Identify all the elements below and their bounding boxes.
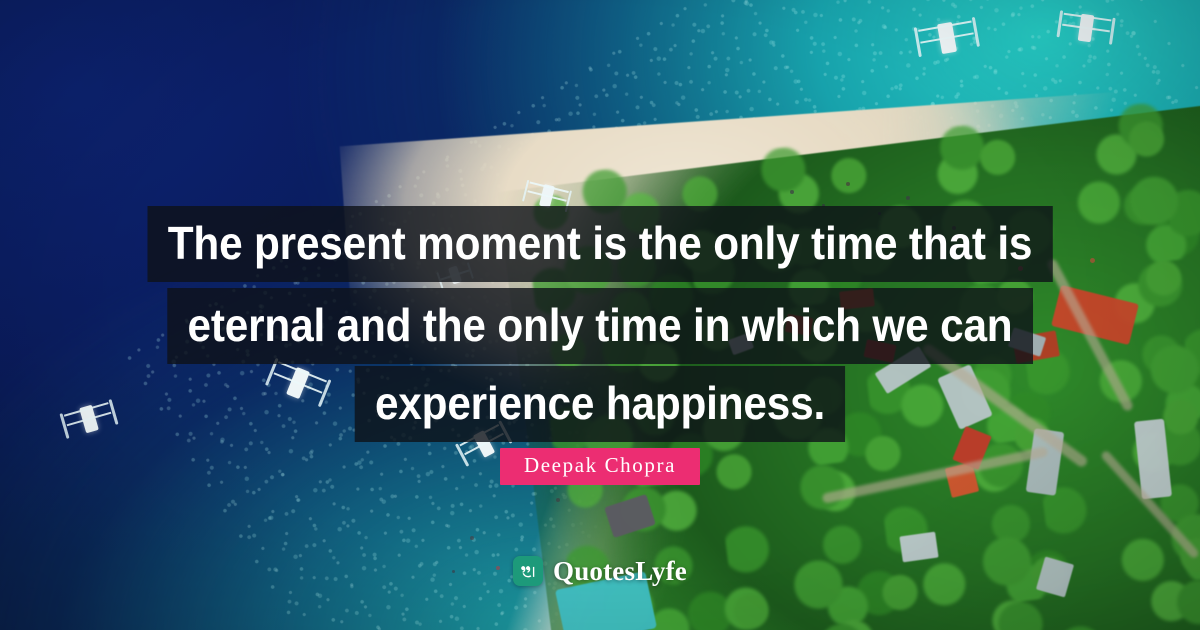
beach-speck (790, 190, 794, 194)
quote-line-1: The present moment is the only time that… (148, 206, 1053, 282)
brand-name: QuotesLyfe (553, 558, 687, 585)
author-name: Deepak Chopra (500, 448, 700, 485)
quote-line-3: experience happiness. (355, 366, 846, 442)
outrigger-boat (1055, 2, 1117, 53)
brand-logo[interactable]: QuotesLyfe (0, 556, 1200, 586)
beach-speck (556, 498, 560, 502)
author-attribution-wrap: Deepak Chopra (0, 448, 1200, 485)
beach-speck (1090, 258, 1095, 263)
quote-smiley-icon (513, 556, 543, 586)
beach-speck (906, 196, 910, 200)
beach-speck (846, 182, 850, 186)
beach-speck (470, 536, 474, 540)
quote-line-2: eternal and the only time in which we ca… (167, 288, 1032, 364)
quote-card: The present moment is the only time that… (0, 0, 1200, 630)
